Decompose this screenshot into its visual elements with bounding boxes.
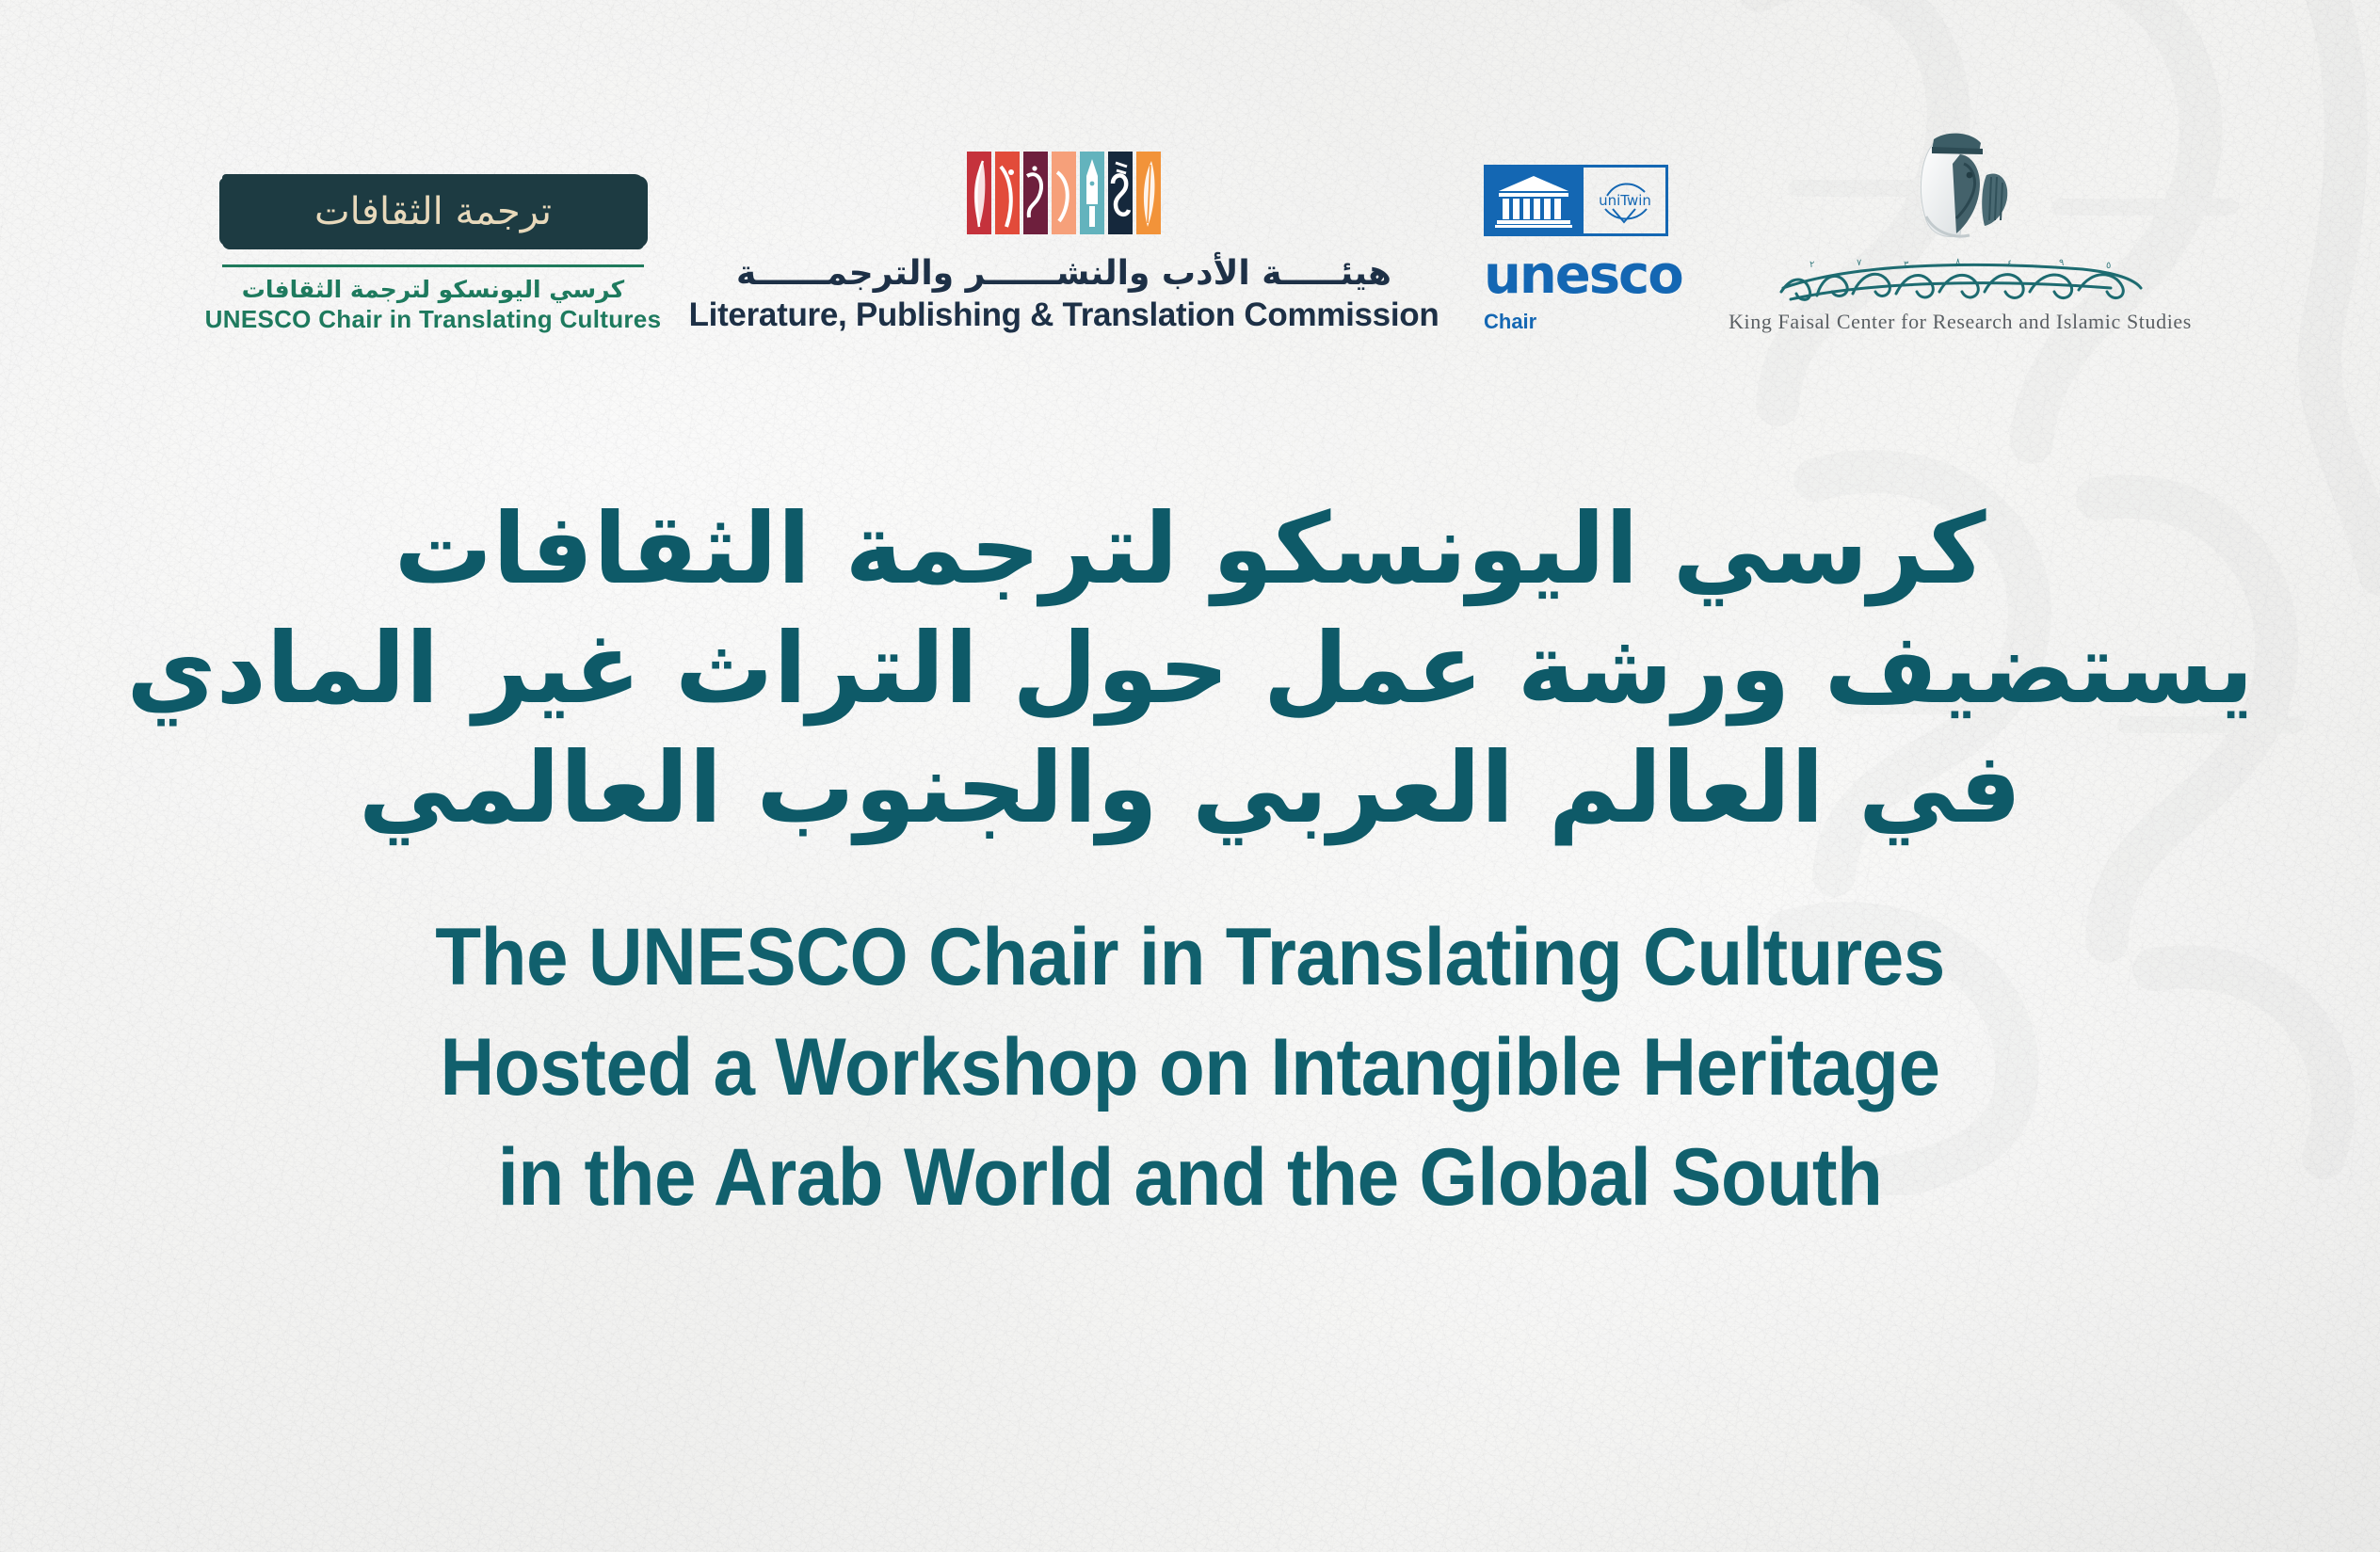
unesco-wordmark: unesco <box>1484 249 1682 302</box>
svg-text:٣: ٣ <box>1904 260 1909 270</box>
lptc-bar-1 <box>967 152 991 234</box>
chair-logo-english-label: UNESCO Chair in Translating Cultures <box>205 305 662 334</box>
unesco-temple-icon <box>1484 165 1584 236</box>
logo-strip: ترجمة الثقافات كرسي اليونسكو لترجمة الثق… <box>0 122 2380 334</box>
chair-logo-divider <box>222 264 644 267</box>
svg-text:٨: ٨ <box>1955 257 1961 267</box>
lptc-colored-bars-icon <box>967 152 1161 234</box>
unesco-chair-subtitle: Chair <box>1484 310 1536 334</box>
headline-english-line-1: The UNESCO Chair in Translating Cultures <box>83 903 2296 1013</box>
svg-text:٢: ٢ <box>1809 260 1814 270</box>
chair-logo-block: ترجمة الثقافات <box>222 174 644 249</box>
headline-arabic-line-1: كرسي اليونسكو لترجمة الثقافات <box>0 489 2380 609</box>
headline-english-block: The UNESCO Chair in Translating Cultures… <box>0 903 2380 1233</box>
king-faisal-english-label: King Faisal Center for Research and Isla… <box>1729 310 2192 334</box>
lptc-bar-6-ain-letter <box>1108 152 1133 234</box>
unitwin-icon: uniTwin <box>1584 165 1668 236</box>
svg-text:٤: ٤ <box>2007 259 2012 269</box>
lptc-arabic-label: هيئـــــة الأدب والنشــــــر والترجمــــ… <box>736 257 1391 291</box>
unesco-chair-logo: uniTwin unesco Chair <box>1484 165 1672 334</box>
svg-text:٧: ٧ <box>1857 258 1862 268</box>
poster-canvas: ترجمة الثقافات كرسي اليونسكو لترجمة الثق… <box>0 0 2380 1552</box>
lptc-english-label: Literature, Publishing & Translation Com… <box>689 296 1439 334</box>
headline-arabic-line-3: في العالم العربي والجنوب العالمي <box>0 728 2380 848</box>
chair-logo-block-arabic: ترجمة الثقافات <box>314 190 552 233</box>
literature-publishing-translation-commission-logo: هيئـــــة الأدب والنشــــــر والترجمــــ… <box>734 152 1393 334</box>
king-faisal-portrait-icon <box>1866 122 2054 247</box>
lptc-bar-5-pen-nib <box>1080 152 1104 234</box>
lptc-bar-4 <box>1052 152 1076 234</box>
svg-text:٩: ٩ <box>2059 258 2064 268</box>
lptc-bar-2 <box>995 152 1020 234</box>
chair-logo-arabic-label: كرسي اليونسكو لترجمة الثقافات <box>242 276 624 303</box>
lptc-bar-3 <box>1023 152 1048 234</box>
lptc-bar-7-feather <box>1136 152 1161 234</box>
svg-text:uniTwin: uniTwin <box>1599 192 1651 209</box>
king-faisal-center-logo: ٢ ٧ ٣ ٨ ٤ ٩ ٥ King Faisal Center for Res… <box>1762 122 2158 334</box>
headline-block: كرسي اليونسكو لترجمة الثقافات يستضيف ورش… <box>0 489 2380 1232</box>
king-faisal-arabic-calligraphy: ٢ ٧ ٣ ٨ ٤ ٩ ٥ <box>1772 250 2148 309</box>
unesco-emblem-icon: uniTwin <box>1484 165 1668 236</box>
unesco-chair-in-translating-cultures-logo: ترجمة الثقافات كرسي اليونسكو لترجمة الثق… <box>222 174 644 334</box>
headline-english-line-2: Hosted a Workshop on Intangible Heritage <box>83 1013 2296 1123</box>
svg-text:٥: ٥ <box>2106 261 2111 271</box>
headline-english-line-3: in the Arab World and the Global South <box>83 1123 2296 1233</box>
headline-arabic-line-2: يستضيف ورشة عمل حول التراث غير المادي <box>0 609 2380 728</box>
